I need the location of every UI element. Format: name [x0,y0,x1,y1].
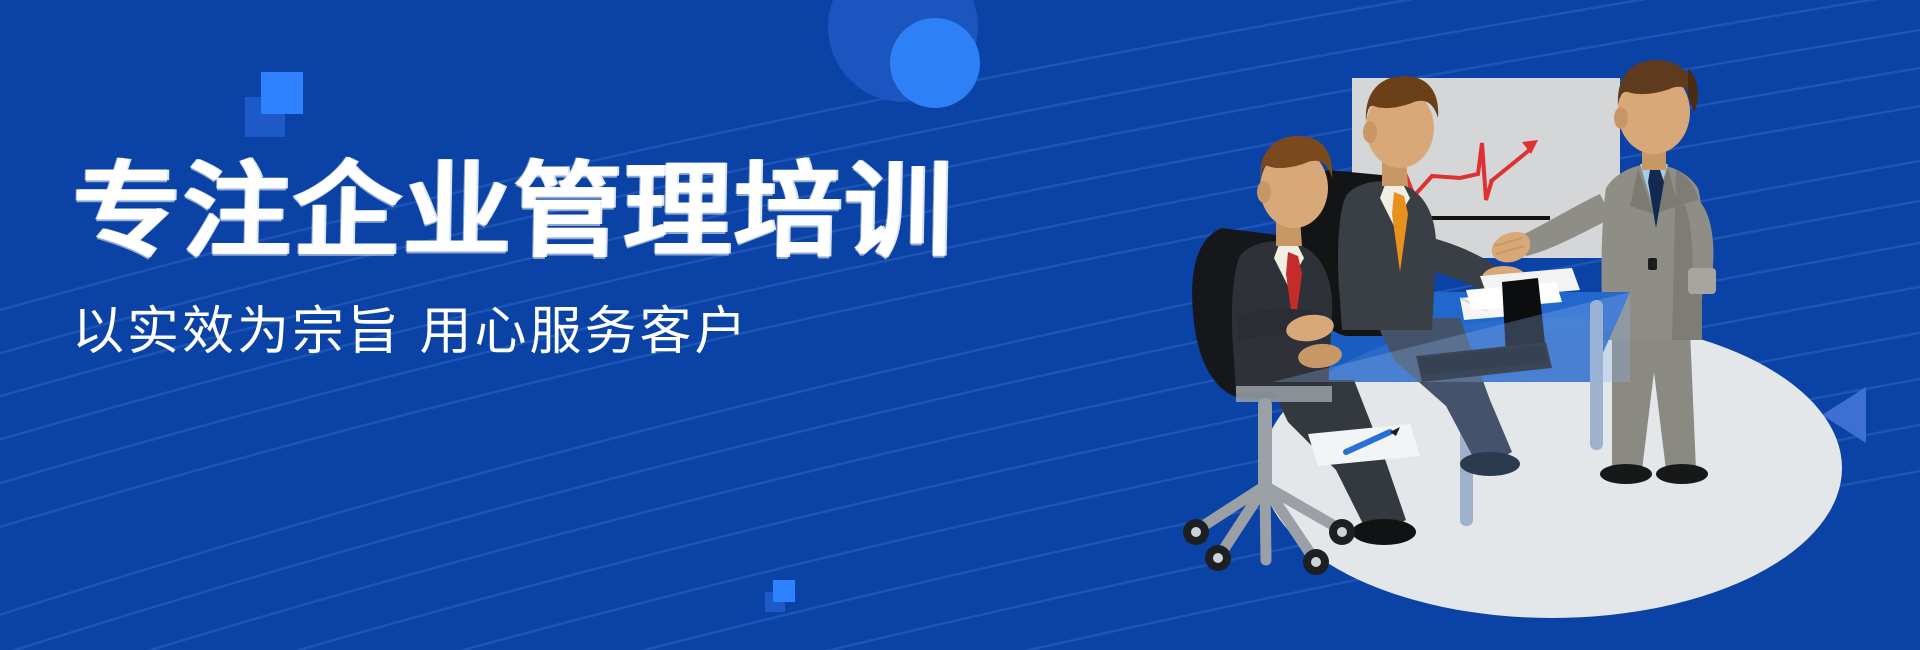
business-training-illustration [1160,0,1920,650]
banner-subheadline: 以实效为宗旨 用心服务客户 [72,306,920,358]
promo-banner: 专注企业管理培训 以实效为宗旨 用心服务客户 [0,0,1920,650]
banner-text-block: 专注企业管理培训 以实效为宗旨 用心服务客户 [72,160,920,358]
decor-square-front [261,72,303,114]
banner-headline: 专注企业管理培训 [71,160,955,264]
decor-circle-small [890,18,980,108]
decor-square-front [773,580,795,602]
